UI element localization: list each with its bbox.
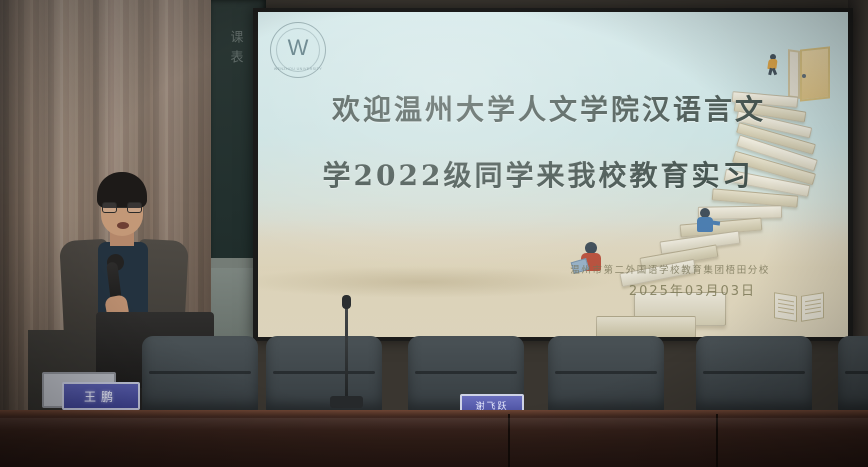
chalk-tray	[211, 258, 253, 268]
chair	[548, 336, 664, 412]
podium-nameplate-text: 王鹏	[84, 388, 118, 405]
screen-glare	[258, 12, 848, 337]
table-gloss	[0, 418, 868, 430]
chair	[838, 336, 868, 412]
table-edge	[0, 410, 868, 416]
gooseneck-microphone	[345, 303, 348, 401]
podium-nameplate: 王鹏	[62, 382, 140, 410]
chair	[142, 336, 258, 412]
chair	[266, 336, 382, 412]
chair-row	[218, 330, 868, 410]
chalk-writing: 课表	[225, 30, 245, 70]
presentation-slide: W WENZHOU UNIVERSITY	[258, 12, 848, 337]
projection-screen: W WENZHOU UNIVERSITY	[253, 8, 853, 341]
lecture-hall-photo: 课表 W WENZHOU UNIVERSITY	[0, 0, 868, 467]
eyeglasses-icon	[102, 202, 142, 213]
microphone-base	[330, 396, 363, 408]
mouth	[117, 222, 129, 229]
chair	[696, 336, 812, 412]
